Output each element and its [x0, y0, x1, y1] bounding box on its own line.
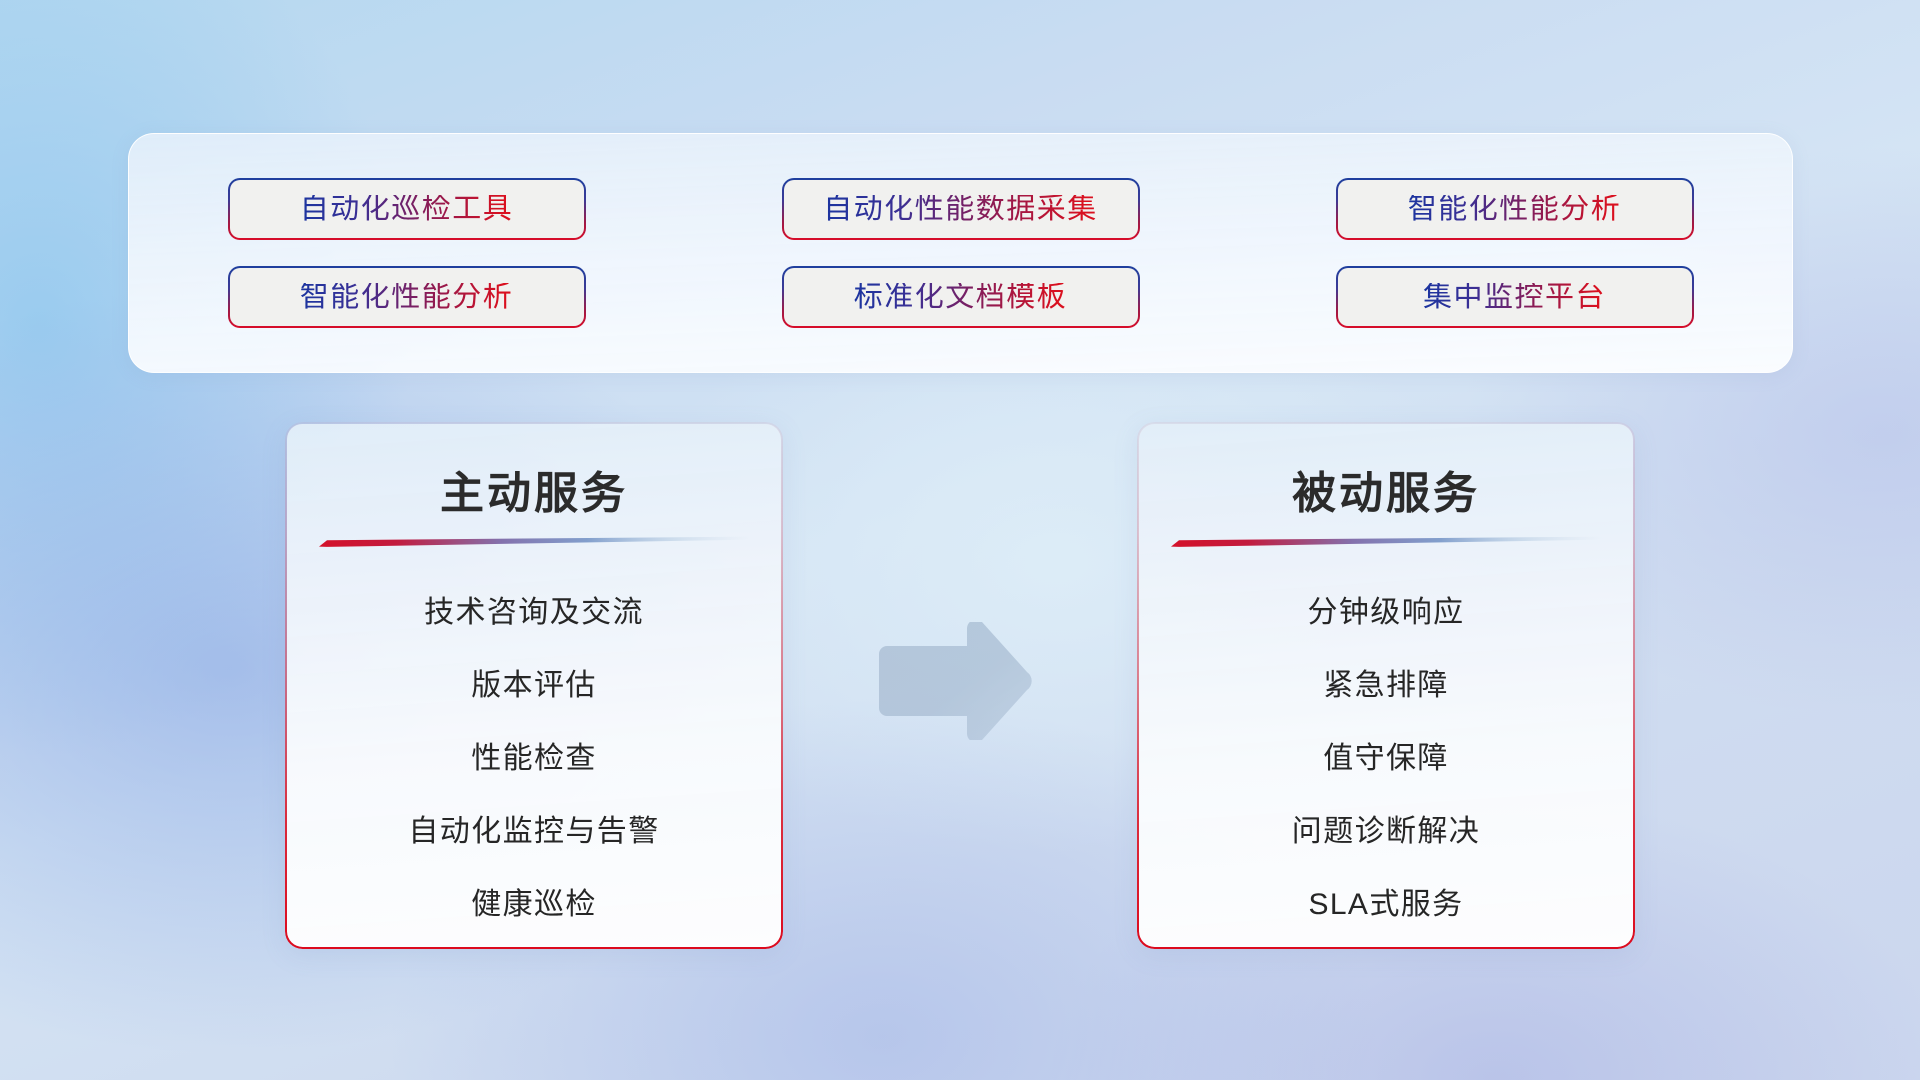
capability-pill-standardized-document-template[interactable]: 标准化文档模板 [782, 266, 1140, 328]
list-item: 值守保障 [1139, 722, 1633, 795]
capability-pill-label: 标准化文档模板 [854, 283, 1068, 312]
list-item: 分钟级响应 [1139, 576, 1633, 649]
card-title: 被动服务 [1139, 457, 1633, 521]
capability-pill-label: 自动化性能数据采集 [823, 195, 1098, 224]
card-divider-gradient [319, 536, 751, 547]
service-card-active: 主动服务 技术咨询及交流 版本评估 性能检查 [286, 423, 782, 948]
capability-pill-intelligent-performance-analysis[interactable]: 智能化性能分析 [1336, 178, 1694, 240]
capabilities-row-2: 智能化性能分析 标准化文档模板 集中监控平台 [129, 266, 1792, 328]
slide-canvas: 自动化巡检工具 自动化性能数据采集 智能化性能分析 智能化性能分析 标准化文档模… [0, 0, 1920, 1080]
list-item: 技术咨询及交流 [287, 576, 781, 649]
list-item: 自动化监控与告警 [287, 795, 781, 868]
card-divider-gradient [1171, 536, 1603, 547]
capabilities-row-1: 自动化巡检工具 自动化性能数据采集 智能化性能分析 [129, 178, 1792, 240]
capability-pill-automation-inspection-tool[interactable]: 自动化巡检工具 [228, 178, 586, 240]
list-item: SLA式服务 [1139, 868, 1633, 941]
capability-pill-label: 自动化巡检工具 [300, 195, 514, 224]
capability-pill-label: 智能化性能分析 [1408, 195, 1622, 224]
capability-pill-centralized-monitoring-platform[interactable]: 集中监控平台 [1336, 266, 1694, 328]
capability-pill-automated-performance-data-collection[interactable]: 自动化性能数据采集 [782, 178, 1140, 240]
card-title: 主动服务 [287, 457, 781, 521]
service-card-passive: 被动服务 分钟级响应 紧急排障 值守保障 [1138, 423, 1634, 948]
capabilities-panel: 自动化巡检工具 自动化性能数据采集 智能化性能分析 智能化性能分析 标准化文档模… [128, 133, 1793, 373]
capability-pill-label: 集中监控平台 [1423, 283, 1606, 312]
card-item-list: 技术咨询及交流 版本评估 性能检查 自动化监控与告警 健康巡检 [287, 576, 781, 941]
list-item: 问题诊断解决 [1139, 795, 1633, 868]
capability-pill-label: 智能化性能分析 [300, 283, 514, 312]
list-item: 紧急排障 [1139, 649, 1633, 722]
list-item: 版本评估 [287, 649, 781, 722]
card-item-list: 分钟级响应 紧急排障 值守保障 问题诊断解决 SLA式服务 [1139, 576, 1633, 941]
list-item: 性能检查 [287, 722, 781, 795]
capability-pill-intelligent-performance-analysis-2[interactable]: 智能化性能分析 [228, 266, 586, 328]
arrow-right-icon [875, 622, 1035, 740]
list-item: 健康巡检 [287, 868, 781, 941]
